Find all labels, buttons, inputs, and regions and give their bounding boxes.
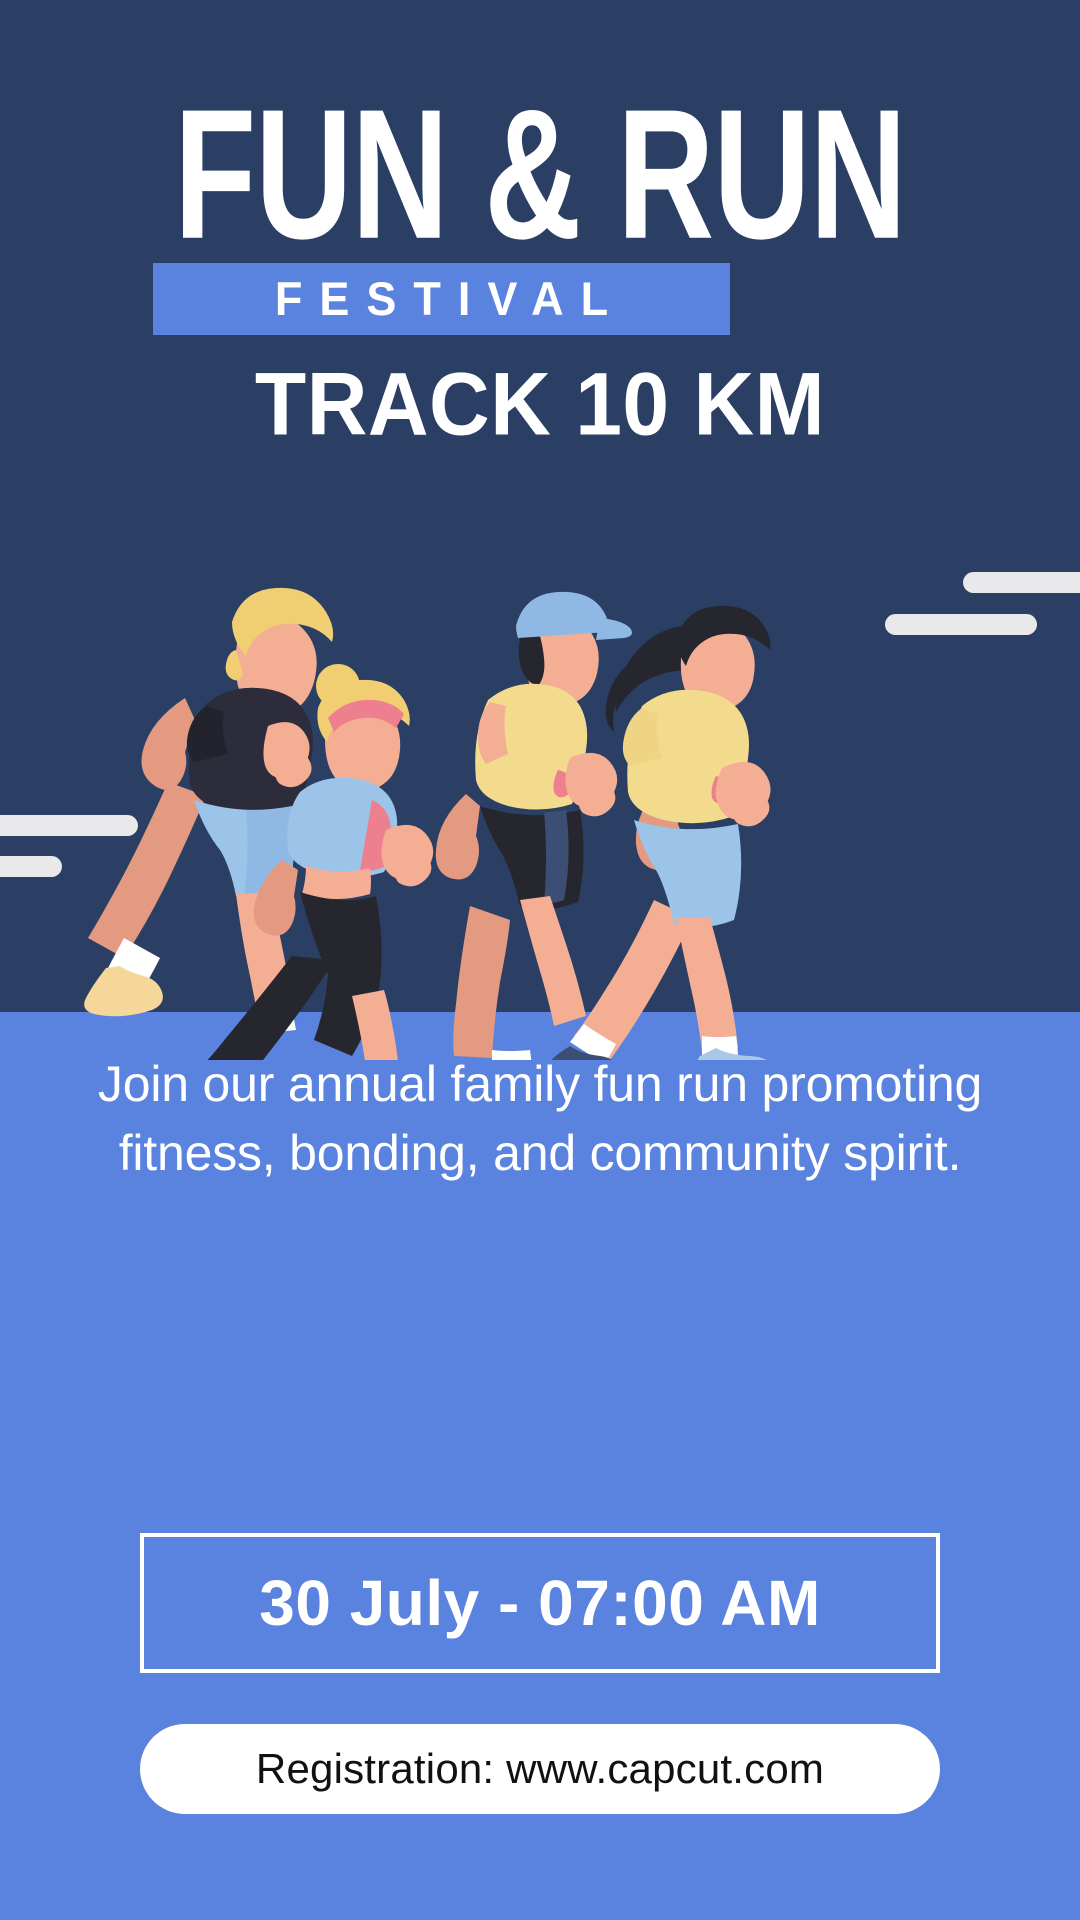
track-distance-label: TRACK 10 KM	[0, 355, 1080, 453]
tagline-text: Join our annual family fun run promoting…	[70, 1050, 1010, 1188]
festival-band: FESTIVAL	[153, 263, 730, 335]
date-time-box: 30 July - 07:00 AM	[140, 1533, 940, 1673]
registration-button[interactable]: Registration: www.capcut.com	[140, 1724, 940, 1814]
festival-label: FESTIVAL	[258, 272, 625, 327]
date-time-label: 30 July - 07:00 AM	[259, 1566, 821, 1640]
registration-label: Registration: www.capcut.com	[256, 1745, 824, 1793]
poster-canvas: FUN & RUN FESTIVAL TRACK 10 KM	[0, 0, 1080, 1920]
four-runners-illustration	[0, 500, 1080, 1060]
runner-3	[436, 592, 632, 1060]
page-title: FUN & RUN	[108, 86, 972, 262]
